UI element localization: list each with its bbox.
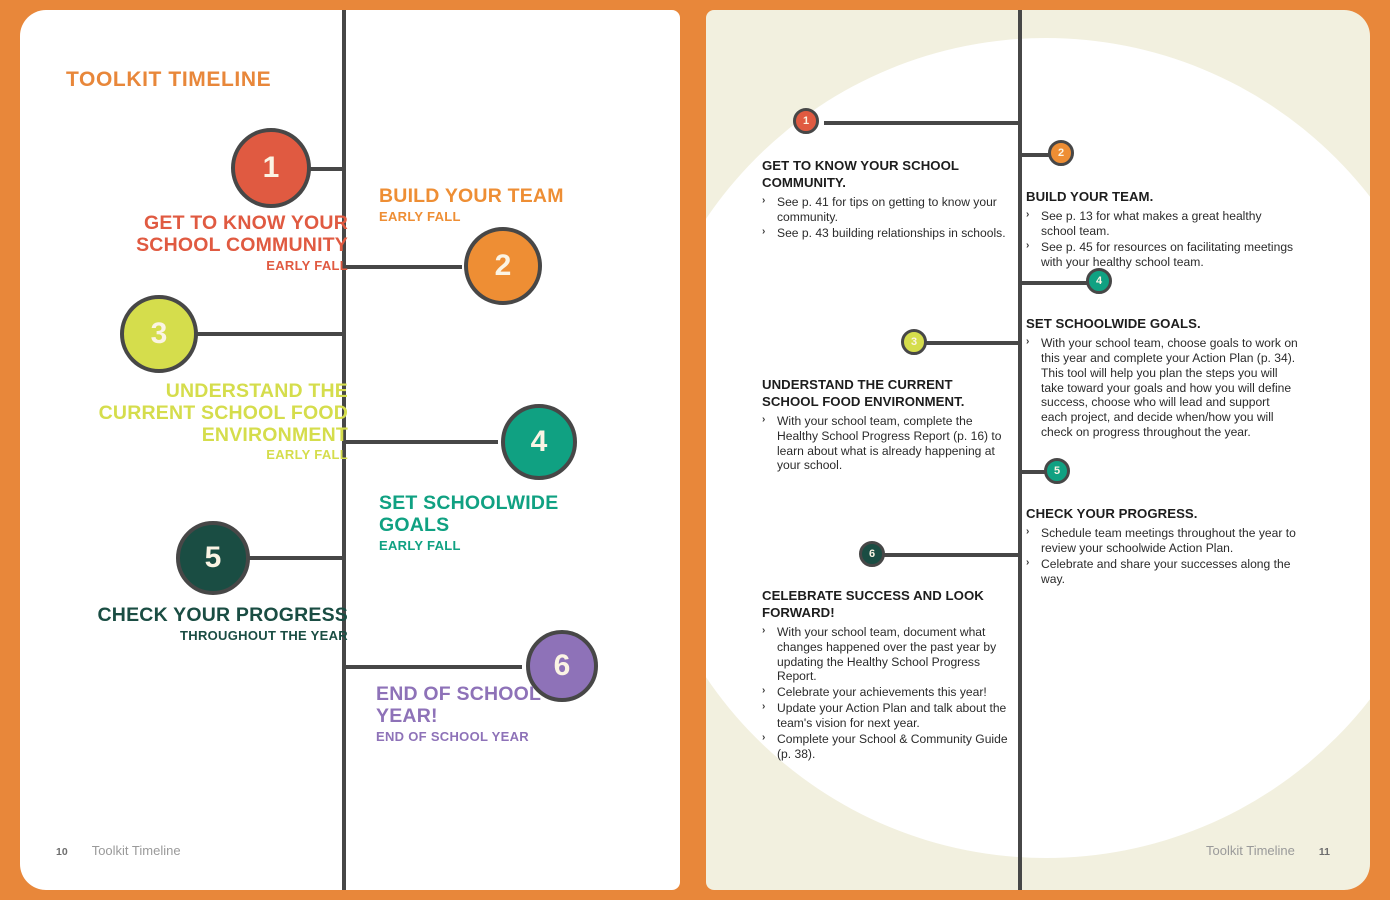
step-marker-1[interactable]: 1 bbox=[793, 108, 819, 134]
step-circle-3[interactable]: 3 bbox=[120, 295, 198, 373]
chevron-right-icon: › bbox=[762, 701, 765, 713]
step-label-sub: EARLY FALL bbox=[379, 539, 589, 554]
step-marker-6[interactable]: 6 bbox=[859, 541, 885, 567]
chevron-right-icon: › bbox=[762, 195, 765, 207]
connector-2 bbox=[342, 265, 462, 269]
connector-6 bbox=[874, 553, 1022, 557]
chevron-right-icon: › bbox=[762, 685, 765, 697]
step-label-1: GET TO KNOW YOUR SCHOOL COMMUNITY EARLY … bbox=[80, 213, 348, 273]
step-number: 2 bbox=[495, 251, 512, 281]
list-item: ›Complete your School & Community Guide … bbox=[762, 732, 1014, 762]
step-bullet-list: ›See p. 13 for what makes a great health… bbox=[1026, 209, 1294, 270]
step-label-title: SET SCHOOLWIDE GOALS bbox=[379, 493, 589, 537]
step-block-6: CELEBRATE SUCCESS AND LOOK FORWARD! ›Wit… bbox=[762, 588, 1014, 763]
step-heading: SET SCHOOLWIDE GOALS. bbox=[1026, 316, 1298, 333]
footer-label: Toolkit Timeline bbox=[92, 843, 181, 858]
step-block-1: GET TO KNOW YOUR SCHOOL COMMUNITY. ›See … bbox=[762, 158, 1014, 241]
step-heading: BUILD YOUR TEAM. bbox=[1026, 189, 1294, 206]
step-label-5: CHECK YOUR PROGRESS THROUGHOUT THE YEAR bbox=[80, 605, 348, 643]
left-page: TOOLKIT TIMELINE 1 2 3 4 5 6 GET T bbox=[20, 10, 680, 890]
chevron-right-icon: › bbox=[1026, 336, 1029, 348]
list-item: ›Update your Action Plan and talk about … bbox=[762, 701, 1014, 731]
step-number: 1 bbox=[263, 153, 280, 183]
chevron-right-icon: › bbox=[1026, 209, 1029, 221]
list-item: ›Celebrate your achievements this year! bbox=[762, 685, 1014, 700]
list-item: ›See p. 41 for tips on getting to know y… bbox=[762, 195, 1014, 225]
step-label-4: SET SCHOOLWIDE GOALS EARLY FALL bbox=[379, 493, 589, 553]
step-number: 5 bbox=[1054, 466, 1060, 477]
timeline-spine bbox=[1018, 10, 1022, 890]
connector-1 bbox=[824, 121, 1022, 125]
right-page-footer: Toolkit Timeline 11 bbox=[1206, 843, 1330, 858]
step-heading: UNDERSTAND THE CURRENT SCHOOL FOOD ENVIR… bbox=[762, 377, 1012, 411]
step-block-4: SET SCHOOLWIDE GOALS. ›With your school … bbox=[1026, 316, 1298, 441]
list-item: ›See p. 43 building relationships in sch… bbox=[762, 226, 1014, 241]
step-number: 6 bbox=[869, 549, 875, 560]
list-item: ›With your school team, document what ch… bbox=[762, 625, 1014, 685]
step-number: 5 bbox=[205, 543, 222, 573]
page-title: TOOLKIT TIMELINE bbox=[66, 68, 271, 92]
right-page: 1 2 3 4 5 6 GET TO KNOW YOUR SCHOOL COMM… bbox=[706, 10, 1370, 890]
step-heading: GET TO KNOW YOUR SCHOOL COMMUNITY. bbox=[762, 158, 1014, 192]
step-bullet-list: ›With your school team, choose goals to … bbox=[1026, 336, 1298, 440]
chevron-right-icon: › bbox=[762, 625, 765, 637]
page-number: 11 bbox=[1319, 846, 1330, 858]
page-number: 10 bbox=[56, 846, 68, 858]
step-label-sub: END OF SCHOOL YEAR bbox=[376, 730, 596, 745]
step-label-sub: EARLY FALL bbox=[379, 210, 579, 225]
list-item: ›See p. 45 for resources on facilitating… bbox=[1026, 240, 1294, 270]
chevron-right-icon: › bbox=[762, 226, 765, 238]
step-marker-2[interactable]: 2 bbox=[1048, 140, 1074, 166]
list-item: ›Celebrate and share your successes alon… bbox=[1026, 557, 1302, 587]
connector-4 bbox=[342, 440, 498, 444]
chevron-right-icon: › bbox=[1026, 240, 1029, 252]
step-number: 3 bbox=[151, 319, 168, 349]
step-circle-1[interactable]: 1 bbox=[231, 128, 311, 208]
step-number: 4 bbox=[1096, 276, 1102, 287]
step-circle-4[interactable]: 4 bbox=[501, 404, 577, 480]
step-number: 1 bbox=[803, 116, 809, 127]
chevron-right-icon: › bbox=[762, 414, 765, 426]
left-page-footer: 10 Toolkit Timeline bbox=[56, 843, 181, 858]
step-bullet-list: ›With your school team, complete the Hea… bbox=[762, 414, 1012, 474]
step-number: 3 bbox=[911, 337, 917, 348]
step-heading: CELEBRATE SUCCESS AND LOOK FORWARD! bbox=[762, 588, 1014, 622]
chevron-right-icon: › bbox=[1026, 557, 1029, 569]
connector-3 bbox=[190, 332, 344, 336]
step-bullet-list: ›Schedule team meetings throughout the y… bbox=[1026, 526, 1302, 587]
step-label-3: UNDERSTAND THE CURRENT SCHOOL FOOD ENVIR… bbox=[80, 381, 348, 463]
step-label-title: CHECK YOUR PROGRESS bbox=[80, 605, 348, 627]
step-number: 2 bbox=[1058, 148, 1064, 159]
step-label-6: END OF SCHOOL YEAR! END OF SCHOOL YEAR bbox=[376, 684, 596, 744]
page-spread: TOOLKIT TIMELINE 1 2 3 4 5 6 GET T bbox=[0, 0, 1390, 900]
connector-5 bbox=[248, 556, 344, 560]
step-marker-3[interactable]: 3 bbox=[901, 329, 927, 355]
step-heading: CHECK YOUR PROGRESS. bbox=[1026, 506, 1302, 523]
list-item: ›See p. 13 for what makes a great health… bbox=[1026, 209, 1294, 239]
step-label-title: BUILD YOUR TEAM bbox=[379, 186, 579, 208]
step-number: 6 bbox=[554, 651, 571, 681]
step-label-title: GET TO KNOW YOUR SCHOOL COMMUNITY bbox=[80, 213, 348, 257]
step-marker-5[interactable]: 5 bbox=[1044, 458, 1070, 484]
step-bullet-list: ›With your school team, document what ch… bbox=[762, 625, 1014, 762]
footer-label: Toolkit Timeline bbox=[1206, 843, 1295, 858]
list-item: ›Schedule team meetings throughout the y… bbox=[1026, 526, 1302, 556]
step-block-2: BUILD YOUR TEAM. ›See p. 13 for what mak… bbox=[1026, 189, 1294, 270]
list-item: ›With your school team, choose goals to … bbox=[1026, 336, 1298, 440]
step-circle-2[interactable]: 2 bbox=[464, 227, 542, 305]
step-label-sub: THROUGHOUT THE YEAR bbox=[80, 629, 348, 644]
list-item: ›With your school team, complete the Hea… bbox=[762, 414, 1012, 474]
chevron-right-icon: › bbox=[1026, 526, 1029, 538]
connector-6 bbox=[342, 665, 522, 669]
step-block-5: CHECK YOUR PROGRESS. ›Schedule team meet… bbox=[1026, 506, 1302, 587]
step-label-2: BUILD YOUR TEAM EARLY FALL bbox=[379, 186, 579, 224]
step-marker-4[interactable]: 4 bbox=[1086, 268, 1112, 294]
step-block-3: UNDERSTAND THE CURRENT SCHOOL FOOD ENVIR… bbox=[762, 377, 1012, 474]
step-circle-5[interactable]: 5 bbox=[176, 521, 250, 595]
connector-3 bbox=[924, 341, 1022, 345]
step-bullet-list: ›See p. 41 for tips on getting to know y… bbox=[762, 195, 1014, 241]
chevron-right-icon: › bbox=[762, 732, 765, 744]
step-number: 4 bbox=[531, 427, 548, 457]
step-label-title: END OF SCHOOL YEAR! bbox=[376, 684, 596, 728]
step-label-sub: EARLY FALL bbox=[80, 448, 348, 463]
step-label-sub: EARLY FALL bbox=[80, 259, 348, 274]
step-label-title: UNDERSTAND THE CURRENT SCHOOL FOOD ENVIR… bbox=[80, 381, 348, 446]
